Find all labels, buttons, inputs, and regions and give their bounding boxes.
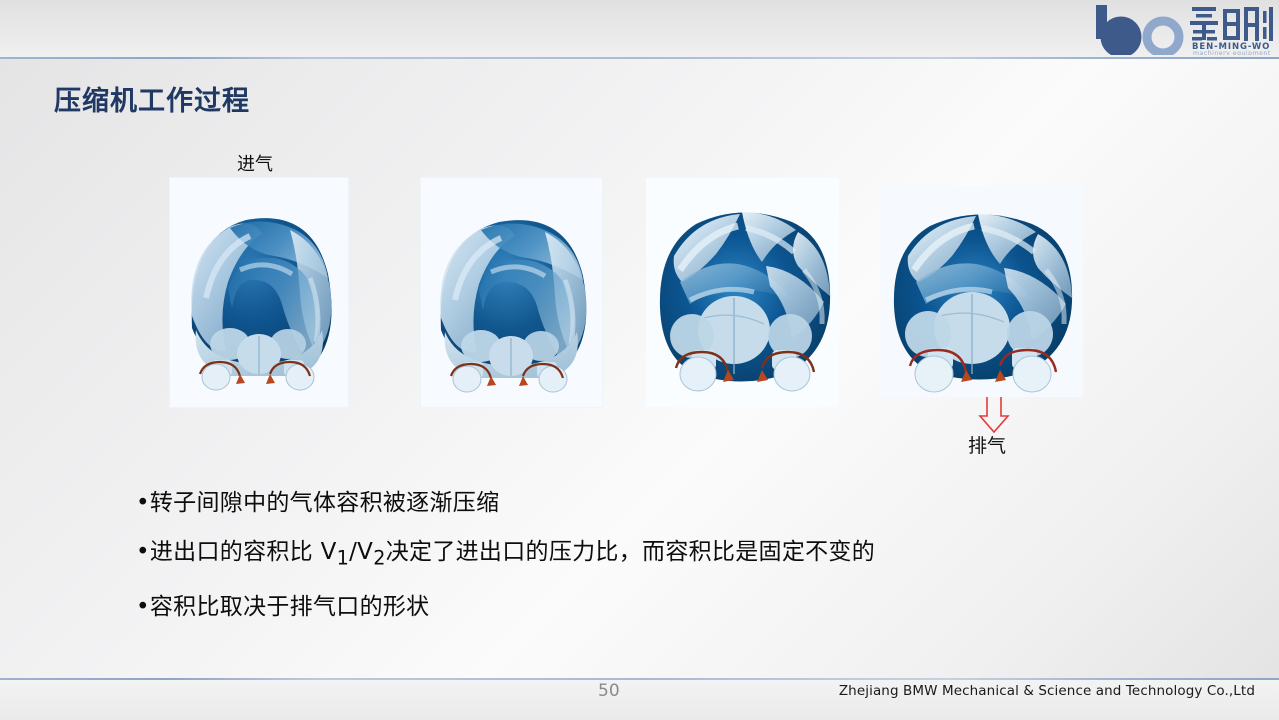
intake-label: 进气 bbox=[237, 150, 273, 176]
rotor-figure-stage-2 bbox=[421, 178, 602, 407]
company-logo: BEN-MING-WO machinery equipment bbox=[1093, 3, 1275, 55]
logo-letter-b bbox=[1096, 5, 1139, 54]
bullet-list: •转子间隙中的气体容积被逐渐压缩 •进出口的容积比 V1/V2决定了进出口的压力… bbox=[136, 479, 1136, 632]
list-item: •转子间隙中的气体容积被逐渐压缩 bbox=[136, 479, 1136, 528]
bullet-marker: • bbox=[136, 479, 150, 528]
bullet-text-1: 转子间隙中的气体容积被逐渐压缩 bbox=[150, 490, 500, 516]
slide-canvas: BEN-MING-WO machinery equipment 压缩机工作过程 … bbox=[0, 0, 1279, 720]
bullet-subscript-v1: 1 bbox=[337, 547, 350, 570]
rotor-figure-stage-3 bbox=[646, 178, 839, 407]
bullet-text-3: 容积比取决于排气口的形状 bbox=[150, 594, 430, 620]
bullet-text-2c: 决定了进出口的压力比，而容积比是固定不变的 bbox=[386, 539, 875, 565]
page-title: 压缩机工作过程 bbox=[54, 79, 250, 118]
bullet-text-2b: /V bbox=[349, 539, 373, 565]
rotor-figure-stage-4 bbox=[880, 186, 1083, 397]
logo-tagline: machinery equipment bbox=[1193, 50, 1271, 55]
bullet-text-2a: 进出口的容积比 V bbox=[150, 539, 337, 565]
header-divider bbox=[0, 57, 1279, 59]
exhaust-label: 排气 bbox=[968, 431, 1006, 458]
company-name: Zhejiang BMW Mechanical & Science and Te… bbox=[839, 683, 1255, 699]
bullet-subscript-v2: 2 bbox=[373, 547, 386, 570]
logo-chinese-name bbox=[1190, 7, 1273, 41]
rotor-figure-stage-1 bbox=[170, 178, 348, 407]
bullet-marker: • bbox=[136, 528, 150, 577]
list-item: •容积比取决于排气口的形状 bbox=[136, 583, 1136, 632]
page-number: 50 bbox=[598, 681, 620, 701]
list-item: •进出口的容积比 V1/V2决定了进出口的压力比，而容积比是固定不变的 bbox=[136, 528, 1136, 583]
slide-header bbox=[0, 0, 1279, 58]
logo-letter-o bbox=[1147, 21, 1179, 53]
bullet-marker: • bbox=[136, 583, 150, 632]
